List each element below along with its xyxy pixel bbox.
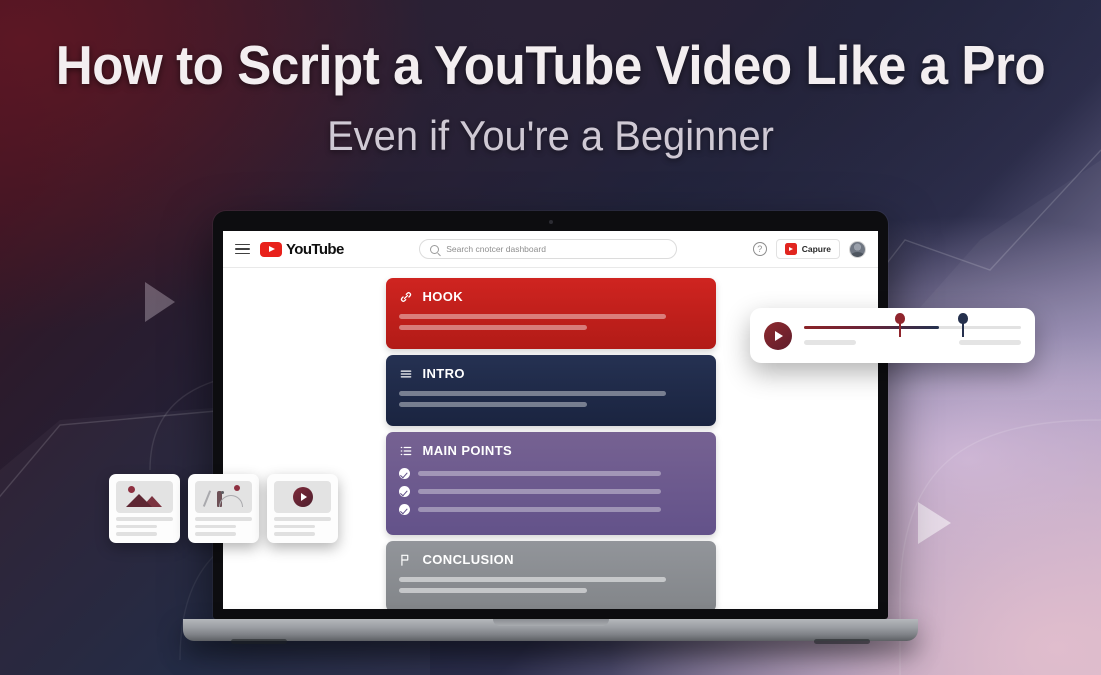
check-icon: [399, 504, 410, 515]
skeleton-line: [116, 532, 157, 536]
menu-lines-icon: [399, 367, 413, 381]
card-header: HOOK: [399, 289, 703, 304]
skeleton-line: [418, 507, 661, 512]
checklist-item[interactable]: [399, 504, 703, 515]
thumbnail-card-chart[interactable]: [188, 474, 259, 543]
laptop-mockup: YouTube Search cnotcer dashboard ? Capur…: [183, 211, 918, 641]
card-label: CONCLUSION: [423, 552, 514, 567]
skeleton-line: [399, 391, 667, 396]
image-placeholder-icon: [116, 481, 173, 513]
skeleton-line: [274, 532, 315, 536]
checklist-item[interactable]: [399, 468, 703, 479]
card-label: INTRO: [423, 366, 465, 381]
skeleton-line: [195, 525, 236, 529]
skeleton-line: [399, 577, 667, 582]
search-area: Search cnotcer dashboard: [354, 239, 743, 259]
skeleton-line: [274, 517, 331, 521]
capture-button[interactable]: Capure: [776, 239, 840, 259]
avatar[interactable]: [849, 241, 866, 258]
flag-icon: [399, 553, 413, 567]
thumbnail-card-video[interactable]: [267, 474, 338, 543]
youtube-toolbar: YouTube Search cnotcer dashboard ? Capur…: [223, 231, 878, 268]
play-triangle-decoration-right: [918, 502, 951, 544]
skeleton-line: [116, 517, 173, 521]
poster-canvas: How to Script a YouTube Video Like a Pro…: [0, 0, 1101, 675]
youtube-logo[interactable]: YouTube: [260, 241, 344, 258]
skeleton-line: [959, 340, 1021, 345]
card-label: MAIN POINTS: [423, 443, 513, 458]
skeleton-line: [399, 314, 667, 319]
page-subtitle: Even if You're a Beginner: [28, 112, 1074, 160]
laptop-lid: YouTube Search cnotcer dashboard ? Capur…: [213, 211, 888, 619]
capture-button-label: Capure: [802, 244, 831, 254]
search-icon: [430, 245, 439, 254]
laptop-screen: YouTube Search cnotcer dashboard ? Capur…: [223, 231, 878, 609]
chart-graph-icon: [195, 481, 252, 513]
thumbnail-art: [274, 481, 331, 513]
card-header: MAIN POINTS: [399, 443, 703, 458]
webcam-icon: [549, 220, 553, 224]
script-card-intro[interactable]: INTRO: [386, 355, 716, 426]
skeleton-line: [399, 588, 587, 593]
timeline-scrubber[interactable]: [804, 326, 1021, 330]
card-label: HOOK: [423, 289, 464, 304]
timeline-track-area: [804, 326, 1021, 346]
toolbar-right: ? Capure: [753, 239, 866, 259]
timeline-marker-hook[interactable]: [899, 313, 901, 337]
script-card-hook[interactable]: HOOK: [386, 278, 716, 349]
card-header: INTRO: [399, 366, 703, 381]
skeleton-line: [274, 525, 315, 529]
card-header: CONCLUSION: [399, 552, 703, 567]
play-triangle-decoration-left: [145, 282, 175, 322]
skeleton-line: [418, 489, 661, 494]
timeline-progress: [804, 326, 939, 330]
checklist-item[interactable]: [399, 486, 703, 497]
skeleton-line: [195, 517, 252, 521]
laptop-foot: [814, 639, 870, 644]
timeline-meta: [804, 340, 1021, 345]
skeleton-line: [116, 525, 157, 529]
thumbnail-art: [116, 481, 173, 513]
skeleton-line: [195, 532, 236, 536]
thumbnail-strip: [109, 474, 338, 543]
thumbnail-card-image[interactable]: [109, 474, 180, 543]
capture-record-icon: [785, 243, 797, 255]
thumbnail-art: [195, 481, 252, 513]
check-icon: [399, 468, 410, 479]
page-title: How to Script a YouTube Video Like a Pro: [39, 33, 1063, 97]
skeleton-line: [418, 471, 661, 476]
bullet-list-icon: [399, 444, 413, 458]
script-card-main-points[interactable]: MAIN POINTS: [386, 432, 716, 535]
search-input[interactable]: Search cnotcer dashboard: [419, 239, 677, 259]
timeline-marker-intro[interactable]: [962, 313, 964, 337]
youtube-logo-text: YouTube: [286, 241, 344, 258]
check-icon: [399, 486, 410, 497]
laptop-base: [183, 619, 918, 641]
help-circle-icon[interactable]: ?: [753, 242, 767, 256]
skeleton-line: [804, 340, 856, 345]
youtube-play-icon: [260, 242, 282, 257]
script-card-conclusion[interactable]: CONCLUSION: [386, 541, 716, 609]
timeline-widget[interactable]: [750, 308, 1035, 363]
skeleton-line: [399, 325, 587, 330]
search-placeholder: Search cnotcer dashboard: [446, 244, 546, 254]
laptop-foot: [231, 639, 287, 644]
play-button-icon[interactable]: [764, 322, 792, 350]
hamburger-icon[interactable]: [235, 242, 250, 257]
link-icon: [399, 290, 413, 304]
play-circle-icon: [293, 487, 313, 507]
skeleton-line: [399, 402, 587, 407]
